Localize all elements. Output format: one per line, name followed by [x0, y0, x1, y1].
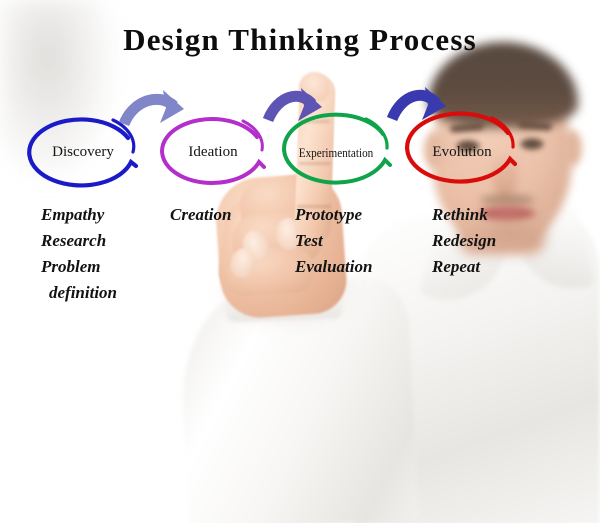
list-item: Research [41, 228, 117, 254]
list-item: Rethink [432, 202, 496, 228]
stage-label-discovery[interactable]: Discovery [34, 144, 132, 161]
arrow-discovery-to-ideation [124, 90, 184, 124]
column-evolution: Rethink Redesign Repeat [432, 202, 496, 280]
stage-label-evolution[interactable]: Evolution [410, 144, 514, 161]
stage-label-experimentation[interactable]: Experimentation [291, 145, 380, 161]
list-item: Redesign [432, 228, 496, 254]
list-item: Test [295, 228, 372, 254]
list-item-continuation: definition [41, 280, 117, 306]
column-experimentation: Prototype Test Evaluation [295, 202, 372, 280]
diagram-overlay: Design Thinking Process [0, 0, 600, 523]
list-item: Empathy [41, 202, 117, 228]
list-item: Problem [41, 254, 117, 280]
list-item: Evaluation [295, 254, 372, 280]
column-discovery: Empathy Research Problem definition [41, 202, 117, 306]
list-item: Prototype [295, 202, 372, 228]
list-item: Repeat [432, 254, 496, 280]
stage-label-ideation[interactable]: Ideation [164, 144, 262, 161]
list-item: Creation [170, 202, 231, 228]
column-ideation: Creation [170, 202, 231, 228]
design-thinking-process-image: Design Thinking Process [0, 0, 600, 523]
